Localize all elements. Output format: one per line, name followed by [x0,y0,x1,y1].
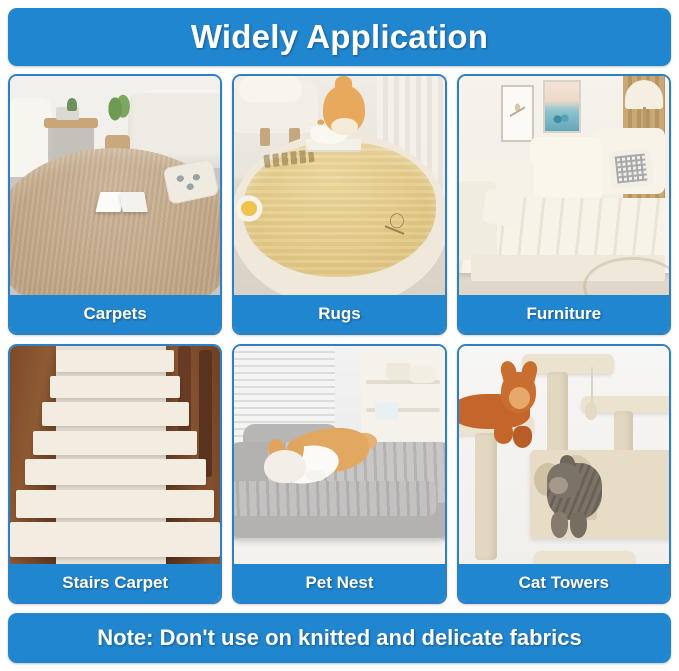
open-book-right-page [120,192,149,212]
scene-round-rug [234,76,444,295]
card-label-furniture: Furniture [459,295,669,333]
orange-cat-paw-right [513,426,532,448]
scene-staircase [10,346,220,565]
sofa-leg-left [260,128,271,145]
shelf-jar [386,363,411,380]
shelf-teapot [409,365,436,382]
infographic-page: Widely Application [0,0,679,671]
card-label-carpets: Carpets [10,295,220,333]
application-card-rugs: Rugs [232,74,446,335]
orange-cat-paw-left [494,424,513,444]
photo-cat-towers [459,346,669,565]
plant-leaves [103,85,141,140]
header-banner: Widely Application [8,8,671,66]
cat-tree-post-left [475,433,496,560]
baluster-back [178,346,191,442]
wall-art-left [501,85,535,142]
scene-pet-bed [234,346,444,565]
stair-tread [50,376,180,398]
stair-tread [10,522,220,557]
stair-tread [56,350,174,372]
card-label-pet-nest: Pet Nest [234,564,444,602]
shelf-cup [375,402,398,419]
stair-tread [16,490,214,518]
stair-tread [25,459,206,485]
application-card-cat-towers: Cat Towers [457,344,671,605]
application-card-carpets: Carpets [8,74,222,335]
tabby-cat-paw-right [570,512,587,538]
sofa-cushion [239,76,302,102]
small-plant [67,98,78,111]
photo-stairs-carpet [10,346,220,565]
application-grid: Carpets [6,74,673,604]
photo-carpets [10,76,220,295]
tabby-cat-paw-left [551,512,568,538]
cat-tree-platform-bottom [534,551,635,564]
orange-cat-face [509,387,530,409]
photo-furniture [459,76,669,295]
hanging-toy-ball [585,402,598,419]
card-label-stairs-carpet: Stairs Carpet [10,564,220,602]
page-title: Widely Application [191,18,488,56]
pet-bed-mat-lower [234,481,436,516]
wall-art-right [543,80,581,132]
scene-living-room-carpet [10,76,220,295]
dog-head [264,450,306,483]
tulip-embroidery [382,207,416,255]
photo-rugs [234,76,444,295]
footer-note-text: Note: Don't use on knitted and delicate … [97,625,581,651]
tabby-cat-face [549,477,568,494]
card-label-rugs: Rugs [234,295,444,333]
plush-dog-muzzle [331,118,358,135]
checkered-pillow [608,148,654,189]
dog-paw [306,470,325,481]
application-card-pet-nest: Pet Nest [232,344,446,605]
side-cushion [482,187,524,227]
application-card-stairs-carpet: Stairs Carpet [8,344,222,605]
card-label-cat-towers: Cat Towers [459,564,669,602]
sofa-back-cushion-2 [530,137,602,203]
wall-shelving [361,346,445,447]
footer-note-banner: Note: Don't use on knitted and delicate … [8,613,671,663]
hanging-string [591,367,593,402]
stair-tread [33,431,197,455]
scene-sofa [459,76,669,295]
floor-lamp-shade [625,80,663,108]
stair-tread [42,402,189,426]
scene-cat-tree [459,346,669,565]
application-card-furniture: Furniture [457,74,671,335]
photo-pet-nest [234,346,444,565]
baluster-front [199,350,212,477]
